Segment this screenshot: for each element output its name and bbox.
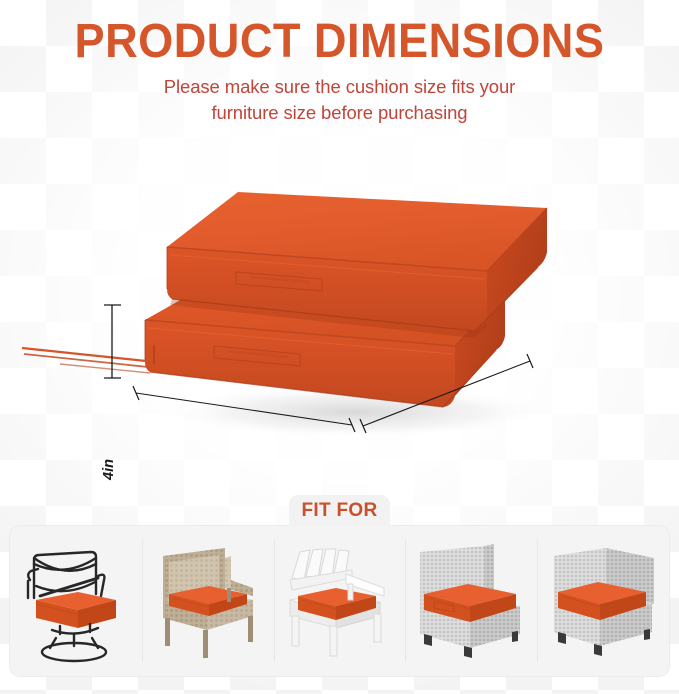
page-subtitle: Please make sure the cushion size fits y… <box>0 74 679 127</box>
swivel-chair-cushion <box>36 592 116 628</box>
dimension-label-height: 4in <box>101 459 117 480</box>
dimension-height <box>104 305 121 378</box>
white-adirondack-chair-icon <box>280 538 398 664</box>
fit-for-item-wicker-corner-sectional[interactable] <box>537 526 669 676</box>
fit-for-item-white-adirondack-chair[interactable] <box>274 526 406 676</box>
subtitle-line-2: furniture size before purchasing <box>0 100 679 126</box>
subtitle-line-1: Please make sure the cushion size fits y… <box>0 74 679 100</box>
fit-for-tab: FIT FOR <box>289 495 390 526</box>
wicker-armless-sectional-icon <box>410 538 532 664</box>
page-title: PRODUCT DIMENSIONS <box>20 18 658 66</box>
fit-for-label: FIT FOR <box>302 500 378 522</box>
cushion-tie-straps <box>22 345 154 373</box>
fit-for-item-wicker-dining-armchair[interactable] <box>142 526 274 676</box>
cushion-diagram-svg <box>0 150 679 490</box>
fit-for-item-wicker-armless-sectional[interactable] <box>405 526 537 676</box>
wicker-corner-sectional-icon <box>542 538 664 664</box>
fit-for-panel <box>9 525 670 677</box>
wicker-dining-armchair-icon <box>149 538 267 664</box>
metal-swivel-dining-chair-icon <box>16 538 136 664</box>
product-illustration: 4in 16in 18.5in <box>0 150 679 490</box>
infographic-stage: PRODUCT DIMENSIONS Please make sure the … <box>0 0 679 694</box>
fit-for-item-metal-swivel-dining-chair[interactable] <box>10 526 142 676</box>
